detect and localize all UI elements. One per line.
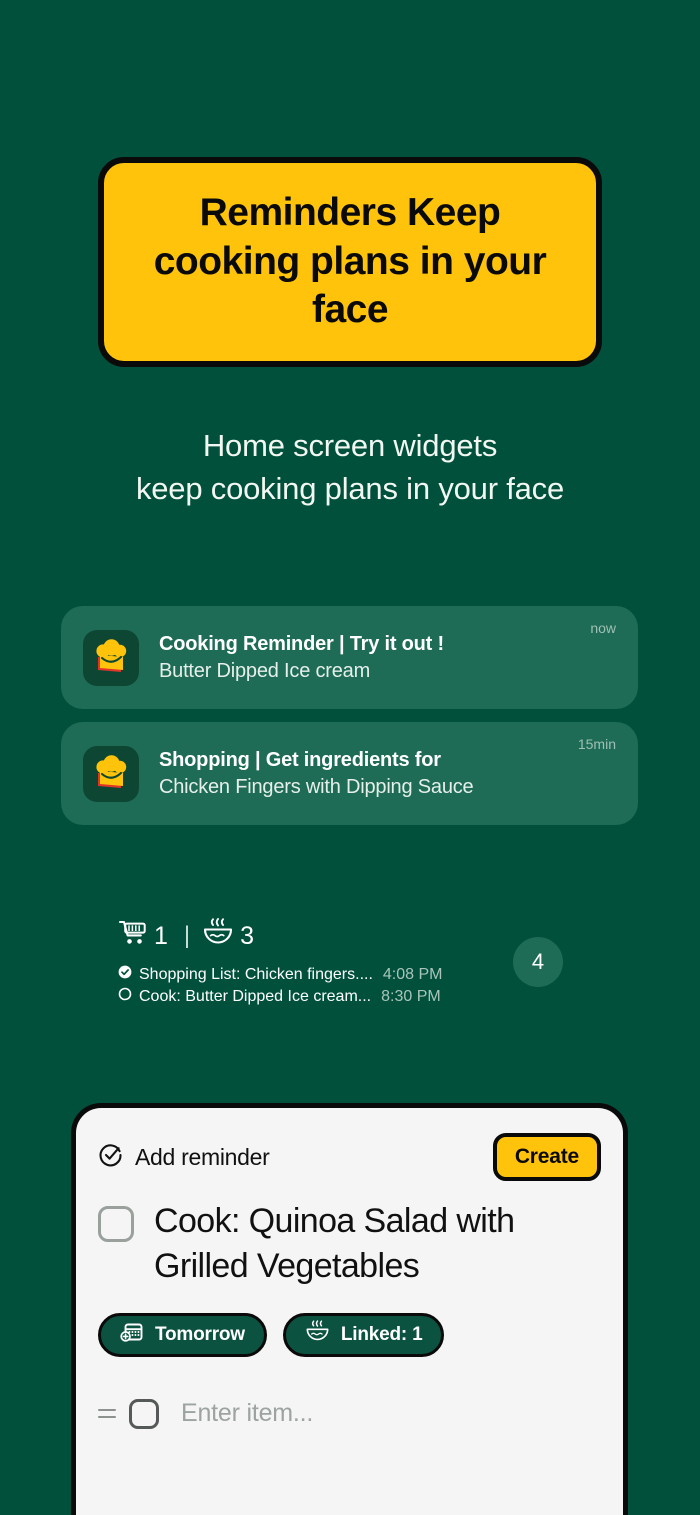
shopping-cart-icon [118, 919, 148, 954]
create-button[interactable]: Create [493, 1133, 601, 1181]
notification-card[interactable]: Shopping | Get ingredients for Chicken F… [61, 722, 638, 825]
widget-task-list: Shopping List: Chicken fingers.... 4:08 … [118, 964, 578, 1008]
cart-count: 1 [154, 922, 168, 951]
notification-body: Cooking Reminder | Try it out ! Butter D… [159, 633, 616, 683]
panel-header: Add reminder Create [76, 1108, 623, 1182]
check-circle-filled-icon [118, 964, 132, 986]
check-circle-icon [98, 1142, 124, 1173]
item-checkbox[interactable] [129, 1399, 159, 1429]
due-date-chip[interactable]: Tomorrow [98, 1313, 267, 1357]
home-screen-widget[interactable]: 1 | 3 Shopping List: Chicken fi [118, 918, 578, 1008]
reminder-chips: Tomorrow Linked: 1 [76, 1289, 623, 1357]
subtitle-line-1: Home screen widgets [0, 425, 700, 468]
headline-banner: Reminders Keep cooking plans in your fac… [98, 157, 602, 367]
bowl-steam-icon [202, 918, 234, 955]
new-item-row: Enter item... [76, 1357, 623, 1429]
pot-count: 3 [240, 922, 254, 951]
reminder-task-text: Cook: Quinoa Salad with Grilled Vegetabl… [154, 1199, 601, 1289]
headline-text: Reminders Keep cooking plans in your fac… [104, 189, 596, 335]
chef-hat-app-icon [83, 746, 139, 802]
widget-task-row[interactable]: Cook: Butter Dipped Ice cream... 8:30 PM [118, 986, 578, 1008]
linked-recipes-chip[interactable]: Linked: 1 [283, 1313, 445, 1357]
notification-timestamp: 15min [578, 736, 616, 752]
notification-title: Cooking Reminder | Try it out ! [159, 633, 616, 656]
notification-title: Shopping | Get ingredients for [159, 749, 616, 772]
notification-subtitle: Chicken Fingers with Dipping Sauce [159, 776, 616, 799]
chef-hat-app-icon [83, 630, 139, 686]
notification-subtitle: Butter Dipped Ice cream [159, 660, 616, 683]
counter-divider: | [184, 922, 190, 950]
widget-count-badge[interactable]: 4 [513, 937, 563, 987]
circle-outline-icon [118, 986, 132, 1008]
calendar-plus-icon [120, 1320, 144, 1350]
subtitle-line-2: keep cooking plans in your face [0, 468, 700, 511]
reminder-task-row: Cook: Quinoa Salad with Grilled Vegetabl… [76, 1182, 623, 1289]
panel-title: Add reminder [135, 1144, 269, 1171]
notification-card[interactable]: Cooking Reminder | Try it out ! Butter D… [61, 606, 638, 709]
subtitle-block: Home screen widgets keep cooking plans i… [0, 425, 700, 511]
widget-task-time: 4:08 PM [383, 964, 443, 986]
item-input-placeholder[interactable]: Enter item... [181, 1399, 313, 1428]
widget-task-row[interactable]: Shopping List: Chicken fingers.... 4:08 … [118, 964, 578, 986]
widget-task-time: 8:30 PM [381, 986, 441, 1008]
due-date-chip-label: Tomorrow [155, 1324, 245, 1346]
widget-counters: 1 | 3 [118, 918, 578, 954]
drag-handle-icon[interactable] [98, 1409, 116, 1418]
widget-task-text: Cook: Butter Dipped Ice cream... [139, 986, 371, 1008]
widget-task-text: Shopping List: Chicken fingers.... [139, 964, 373, 986]
notification-body: Shopping | Get ingredients for Chicken F… [159, 749, 616, 799]
promo-screen: Reminders Keep cooking plans in your fac… [0, 0, 700, 1515]
task-checkbox[interactable] [98, 1206, 134, 1242]
notification-timestamp: now [590, 620, 616, 636]
add-reminder-panel: Add reminder Create Cook: Quinoa Salad w… [71, 1103, 628, 1515]
bowl-steam-icon [305, 1320, 330, 1350]
linked-recipes-chip-label: Linked: 1 [341, 1324, 423, 1346]
